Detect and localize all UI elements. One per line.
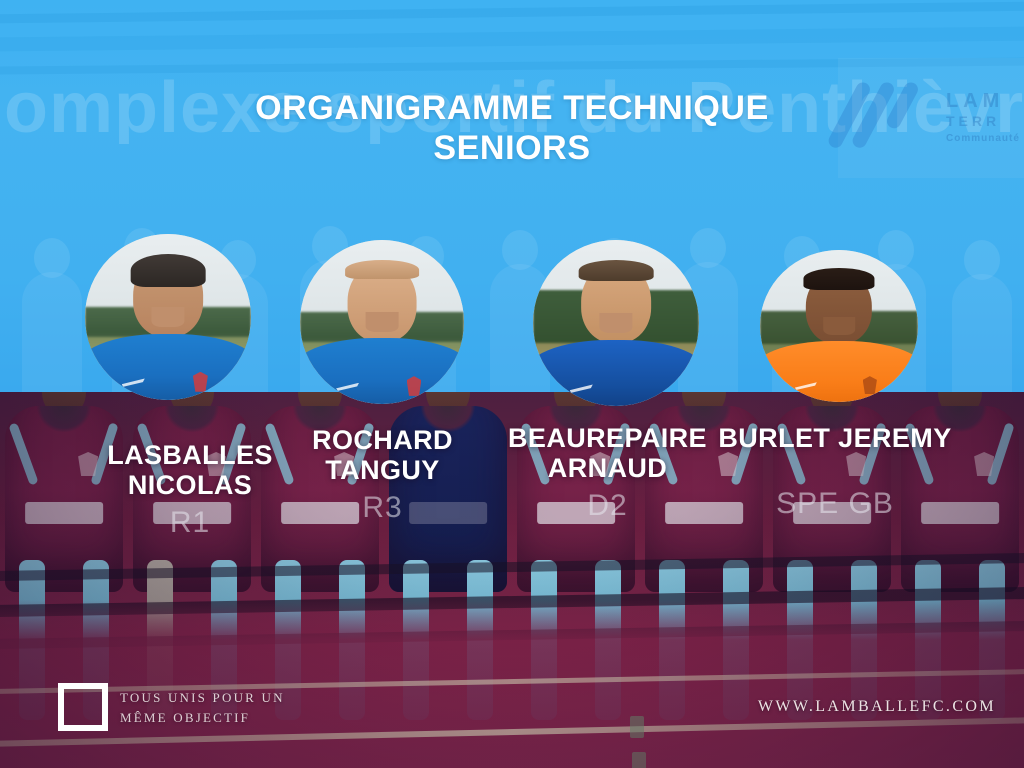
portrait-lasballes-nicolas (85, 234, 251, 400)
portrait-burlet-jeremy (760, 250, 918, 402)
staff-name-line1: BURLET JEREMY (710, 423, 960, 453)
portrait-rochard-tanguy (300, 240, 464, 404)
footer-tagline-line2: MÊME OBJECTIF (120, 708, 285, 728)
staff-name-line2: ARNAUD (480, 453, 735, 483)
portrait-kit (85, 334, 251, 400)
page-title-line2: SENIORS (0, 128, 1024, 168)
club-crest-icon (193, 372, 208, 392)
footer-tagline: TOUS UNIS POUR UN MÊME OBJECTIF (120, 688, 285, 728)
staff-card-burlet-jeremy: BURLET JEREMY SPE GB (710, 423, 960, 521)
crowd-head (952, 274, 1012, 392)
poster-canvas: omplexe sportif du Penthièvre LAM TERR C… (0, 0, 1024, 768)
crowd-head (22, 272, 82, 392)
club-crest-icon (863, 376, 877, 394)
portrait-hair (803, 268, 874, 289)
footer-tagline-line1: TOUS UNIS POUR UN (120, 688, 285, 708)
staff-card-rochard-tanguy: ROCHARD TANGUY R3 (255, 425, 510, 525)
portrait-hair (579, 260, 654, 282)
portrait-kit (533, 340, 699, 406)
portrait-neck (599, 313, 632, 333)
staff-role: SPE GB (710, 487, 960, 521)
club-crest-icon (407, 376, 422, 396)
staff-role: D2 (480, 489, 735, 523)
footer-website-url: WWW.LAMBALLEFC.COM (758, 698, 996, 716)
portrait-neck (151, 307, 184, 327)
staff-role: R3 (255, 491, 510, 525)
portrait-hair (131, 254, 206, 287)
portrait-kit (300, 338, 464, 404)
staff-card-beaurepaire-arnaud: BEAUREPAIRE ARNAUD D2 (480, 423, 735, 523)
portrait-kit (760, 341, 918, 402)
portrait-neck (823, 317, 855, 335)
club-logo-mark (58, 683, 108, 731)
page-title: ORGANIGRAMME TECHNIQUE SENIORS (0, 88, 1024, 168)
portrait-neck (366, 312, 399, 332)
staff-name-line1: BEAUREPAIRE (480, 423, 735, 453)
background-stripe (0, 26, 1024, 52)
page-title-line1: ORGANIGRAMME TECHNIQUE (255, 89, 769, 127)
portrait-hair (345, 260, 419, 280)
staff-name-line1: ROCHARD (255, 425, 510, 455)
background-stripe (0, 1, 1024, 23)
staff-name-line2: TANGUY (255, 455, 510, 485)
portrait-beaurepaire-arnaud (533, 240, 699, 406)
